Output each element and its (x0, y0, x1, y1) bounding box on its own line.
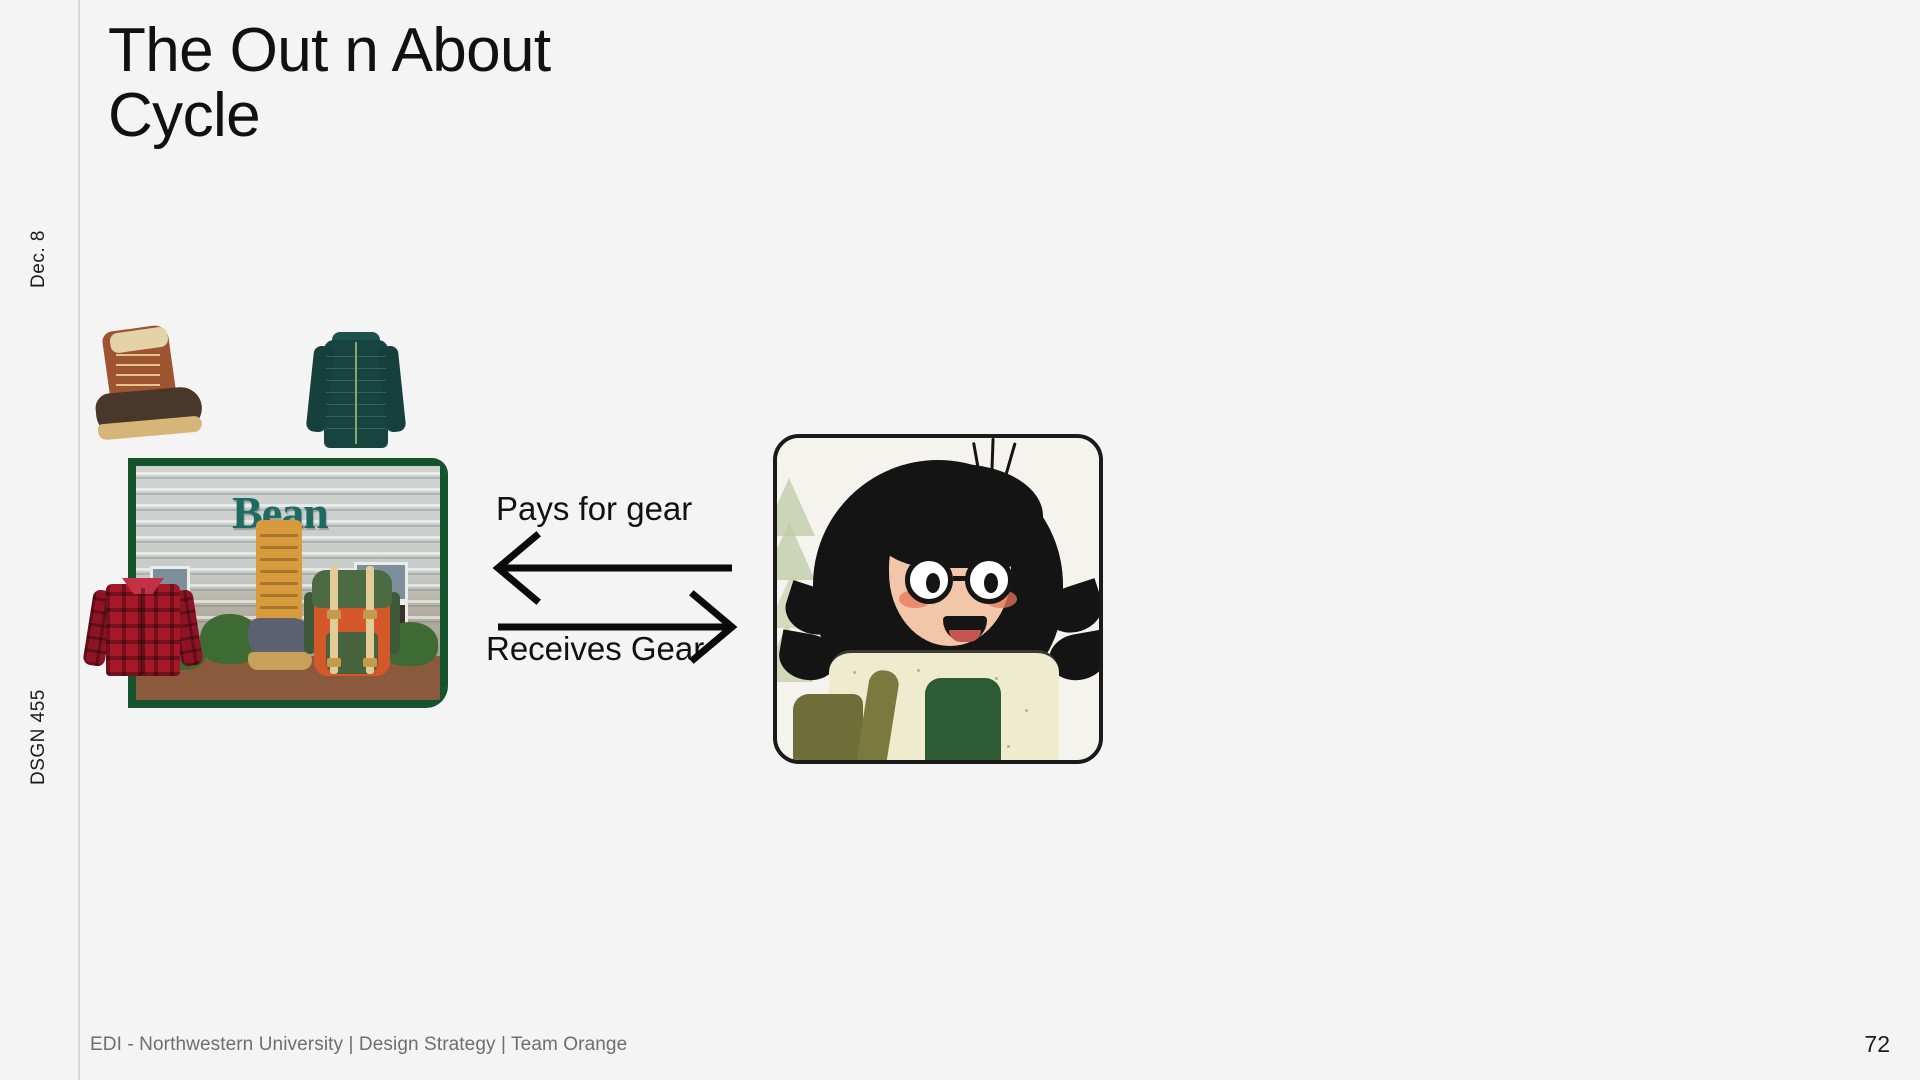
rail-divider (78, 0, 80, 1080)
puffer-jacket-icon (308, 332, 404, 452)
eye-pupil (926, 573, 940, 593)
hair-front (873, 464, 1043, 568)
glasses-lens-left (905, 556, 953, 604)
eye-pupil (984, 573, 998, 593)
glasses-lens-right (965, 556, 1013, 604)
arrow-right (498, 595, 732, 659)
page-title-line-2: Cycle (108, 83, 551, 148)
arrow-left (498, 536, 732, 600)
footer-page-number: 72 (1864, 1031, 1890, 1058)
flannel-shirt-icon (88, 574, 198, 678)
retailer-collage: Bean (100, 450, 420, 708)
duck-boot-icon (90, 328, 208, 448)
footer-credit: EDI - Northwestern University | Design S… (90, 1034, 627, 1056)
backpack-icon (304, 558, 400, 682)
rail-date-label: Dec. 8 (28, 220, 50, 298)
giant-boot-statue-icon (248, 520, 312, 680)
backpack-body (793, 694, 863, 764)
rail-course-label: DSGN 455 (28, 707, 50, 785)
customer-illustration (773, 434, 1103, 764)
flow-arrows-svg (470, 460, 760, 710)
glasses-bridge (953, 576, 969, 581)
green-shirt (925, 678, 1001, 764)
slide-canvas: Dec. 8 DSGN 455 The Out n About Cycle (0, 0, 1920, 1080)
exchange-flow-group: Pays for gear Receives Gear (470, 460, 760, 710)
page-title-line-1: The Out n About (108, 18, 551, 83)
page-title: The Out n About Cycle (108, 18, 551, 148)
